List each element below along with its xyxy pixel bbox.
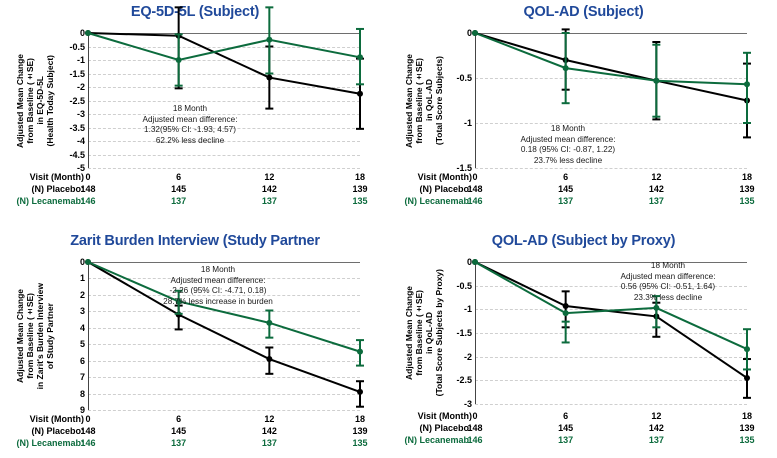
counts-table-qolad-subject-by-proxy: Visit (Month)061218(N) Placebo:148145142… [390,411,777,451]
annotation-qolad-subject: 18 MonthAdjusted mean difference:0.18 (9… [478,124,658,166]
series-line [475,33,747,84]
data-point [357,91,363,97]
series-layer-eq5d5l-subject [88,33,360,168]
cell-placebo-n: 142 [649,184,664,194]
row-label-placebo-n: (N) Placebo: [31,426,84,436]
y-tick-label: 0 [80,28,85,38]
data-point [563,65,569,71]
cell-visit-month: 12 [264,172,274,182]
cell-placebo-n: 148 [80,426,95,436]
cell-visit-month: 6 [176,414,181,424]
figure-root: EQ-5D-5L (Subject)Adjusted Mean Changefr… [0,0,777,458]
cell-visit-month: 0 [85,172,90,182]
cell-visit-month: 18 [742,172,752,182]
row-label-visit-month: Visit (Month) [418,411,472,421]
y-tick-label: -1 [77,55,85,65]
cell-visit-month: 12 [651,411,661,421]
cell-lecanemab-n: 137 [649,435,664,445]
cell-lecanemab-n: 146 [80,196,95,206]
y-tick-label: -4 [77,136,85,146]
annotation-line: Adjusted mean difference: [478,135,658,146]
y-axis-label-line: from Baseline (±SE) [414,290,424,376]
y-tick-label: -0.5 [456,281,472,291]
y-tick-label: 5 [80,339,85,349]
y-axis-label-line: from Baseline (±SE) [25,58,35,144]
cell-lecanemab-n: 137 [558,196,573,206]
cell-placebo-n: 145 [558,184,573,194]
cell-lecanemab-n: 135 [739,196,754,206]
row-label-visit-month: Visit (Month) [418,172,472,182]
cell-lecanemab-n: 137 [171,438,186,448]
data-point [472,259,478,265]
y-tick-label: 0 [80,257,85,267]
cell-placebo-n: 145 [171,426,186,436]
data-point [266,37,272,43]
y-tick-label: -0.5 [69,42,85,52]
row-label-visit-month: Visit (Month) [30,172,84,182]
cell-placebo-n: 148 [80,184,95,194]
y-tick-label: 7 [80,372,85,382]
cell-lecanemab-n: 137 [262,438,277,448]
y-axis-label-line: in Zarit's Burden Interview [35,283,45,389]
y-tick-label: 8 [80,389,85,399]
row-label-placebo-n: (N) Placebo: [419,184,472,194]
y-tick-label: -0.5 [456,73,472,83]
cell-placebo-n: 148 [467,184,482,194]
cell-placebo-n: 139 [739,423,754,433]
y-tick-label: -2 [464,352,472,362]
y-tick-label: -1 [464,304,472,314]
y-axis-label-line: (Total Score Subjects by Proxy) [434,269,444,396]
row-label-lecanemab-n: (N) Lecanemab: [404,435,472,445]
row-label-lecanemab-n: (N) Lecanemab: [404,196,472,206]
y-tick-label: -1 [464,118,472,128]
data-point [744,81,750,87]
cell-lecanemab-n: 135 [739,435,754,445]
annotation-line: 1.32(95% CI: -1.93, 4.57) [100,125,280,136]
annotation-line: 23.3% less decline [578,293,758,304]
y-tick-label: -4.5 [69,150,85,160]
data-point [357,54,363,60]
cell-visit-month: 6 [176,172,181,182]
y-axis-label-line: in QoL-AD [424,79,434,121]
row-label-lecanemab-n: (N) Lecanemab: [16,438,84,448]
chart-panel-qolad-subject-by-proxy: QOL-AD (Subject by Proxy)Adjusted Mean C… [390,229,777,458]
gridline [88,168,360,169]
y-tick-label: 6 [80,356,85,366]
annotation-line: 18 Month [100,104,280,115]
y-tick-label: -1.5 [456,328,472,338]
y-axis-label-line: in EQ-5D-5L [35,76,45,125]
annotation-line: 0.18 (95% CI: -0.87, 1.22) [478,145,658,156]
series-line [88,33,360,94]
gridline [475,168,747,169]
data-point [744,346,750,352]
cell-lecanemab-n: 137 [262,196,277,206]
cell-lecanemab-n: 146 [80,438,95,448]
y-tick-label: -3 [77,109,85,119]
y-axis-label-line: Adjusted Mean Change [15,289,25,383]
cell-visit-month: 12 [264,414,274,424]
annotation-line: Adjusted mean difference: [128,276,308,287]
cell-lecanemab-n: 137 [649,196,664,206]
row-label-placebo-n: (N) Placebo: [31,184,84,194]
cell-placebo-n: 145 [171,184,186,194]
cell-visit-month: 18 [355,414,365,424]
cell-visit-month: 12 [651,172,661,182]
y-axis-label-line: from Baseline (±SE) [414,58,424,144]
row-label-placebo-n: (N) Placebo: [419,423,472,433]
annotation-line: 28.7% less increase in burden [128,297,308,308]
cell-visit-month: 6 [563,172,568,182]
data-point [563,310,569,316]
annotation-line: 18 Month [578,261,758,272]
annotation-line: 0.56 (95% CI: -0.51, 1.64) [578,282,758,293]
chart-panel-qolad-subject: QOL-AD (Subject)Adjusted Mean Changefrom… [390,0,777,229]
cell-placebo-n: 142 [262,426,277,436]
y-tick-label: 0 [467,257,472,267]
cell-lecanemab-n: 135 [352,438,367,448]
y-axis-label-line: in QoL-AD [424,312,434,354]
y-axis-label-line: from Baseline (±SE) [25,293,35,379]
cell-lecanemab-n: 135 [352,196,367,206]
data-point [563,303,569,309]
y-tick-label: -3 [464,399,472,409]
annotation-line: 18 Month [128,265,308,276]
counts-table-eq5d5l-subject: Visit (Month)061218(N) Placebo:148145142… [0,172,390,212]
cell-placebo-n: 139 [739,184,754,194]
gridline [475,404,747,405]
row-label-lecanemab-n: (N) Lecanemab: [16,196,84,206]
data-point [357,349,363,355]
y-axis-label-line: Adjusted Mean Change [404,54,414,148]
y-axis-label-qolad-subject: Adjusted Mean Changefrom Baseline (±SE)i… [396,33,451,168]
data-point [744,375,750,381]
cell-placebo-n: 148 [467,423,482,433]
annotation-line: 62.2% less decline [100,136,280,147]
y-axis-label-qolad-subject-by-proxy: Adjusted Mean Changefrom Baseline (±SE)i… [396,262,451,404]
annotation-line: 23.7% less decline [478,156,658,167]
cell-lecanemab-n: 146 [467,435,482,445]
data-point [472,30,478,36]
annotation-eq5d5l-subject: 18 MonthAdjusted mean difference:1.32(95… [100,104,280,146]
y-tick-label: -1.5 [69,69,85,79]
data-point [653,305,659,311]
cell-visit-month: 18 [742,411,752,421]
chart-panel-zarit-burden-study-partner: Zarit Burden Interview (Study PartnerAdj… [0,229,390,458]
annotation-line: Adjusted mean difference: [100,115,280,126]
cell-visit-month: 6 [563,411,568,421]
cell-visit-month: 18 [355,172,365,182]
y-tick-label: -2 [77,82,85,92]
y-tick-label: -3.5 [69,123,85,133]
y-axis-label-line: (Total Score Subjects) [434,56,444,145]
cell-visit-month: 0 [472,172,477,182]
data-point [266,356,272,362]
data-point [176,57,182,63]
plot-area-eq5d5l-subject [88,33,360,168]
y-tick-label: 4 [80,323,85,333]
gridline [88,410,360,411]
cell-lecanemab-n: 137 [171,196,186,206]
annotation-line: 18 Month [478,124,658,135]
data-point [357,389,363,395]
counts-table-zarit-burden-study-partner: Visit (Month)061218(N) Placebo:148145142… [0,414,390,454]
y-axis-label-line: (Health Today Subject) [45,55,55,146]
y-axis-label-line: of Study Partner [45,303,55,369]
annotation-line: Adjusted mean difference: [578,272,758,283]
y-tick-label: 0 [467,28,472,38]
counts-table-qolad-subject: Visit (Month)061218(N) Placebo:148145142… [390,172,777,212]
chart-panel-eq5d5l-subject: EQ-5D-5L (Subject)Adjusted Mean Changefr… [0,0,390,229]
y-axis-label-zarit-burden-study-partner: Adjusted Mean Changefrom Baseline (±SE)i… [6,262,64,410]
data-point [85,30,91,36]
cell-placebo-n: 145 [558,423,573,433]
chart-title-eq5d5l-subject: EQ-5D-5L (Subject) [0,4,390,20]
cell-placebo-n: 139 [352,184,367,194]
y-tick-label: -2.5 [69,96,85,106]
annotation-zarit-burden-study-partner: 18 MonthAdjusted mean difference:-2.26 (… [128,265,308,307]
chart-title-qolad-subject: QOL-AD (Subject) [390,4,777,20]
cell-visit-month: 0 [472,411,477,421]
chart-title-zarit-burden-study-partner: Zarit Burden Interview (Study Partner [0,233,390,249]
cell-lecanemab-n: 137 [558,435,573,445]
data-point [653,78,659,84]
cell-placebo-n: 142 [649,423,664,433]
annotation-qolad-subject-by-proxy: 18 MonthAdjusted mean difference:0.56 (9… [578,261,758,303]
cell-placebo-n: 139 [352,426,367,436]
y-tick-label: -2.5 [456,375,472,385]
cell-visit-month: 0 [85,414,90,424]
y-axis-label-line: Adjusted Mean Change [404,286,414,380]
chart-title-qolad-subject-by-proxy: QOL-AD (Subject by Proxy) [390,233,777,249]
y-tick-label: 3 [80,306,85,316]
row-label-visit-month: Visit (Month) [30,414,84,424]
y-axis-label-line: Adjusted Mean Change [15,54,25,148]
y-tick-label: 2 [80,290,85,300]
data-point [266,320,272,326]
annotation-line: -2.26 (95% CI: -4.71, 0.18) [128,286,308,297]
cell-lecanemab-n: 146 [467,196,482,206]
cell-placebo-n: 142 [262,184,277,194]
y-axis-label-eq5d5l-subject: Adjusted Mean Changefrom Baseline (±SE)i… [6,33,64,168]
series-line [475,33,747,101]
data-point [85,259,91,265]
y-tick-label: 1 [80,273,85,283]
data-point [266,75,272,81]
